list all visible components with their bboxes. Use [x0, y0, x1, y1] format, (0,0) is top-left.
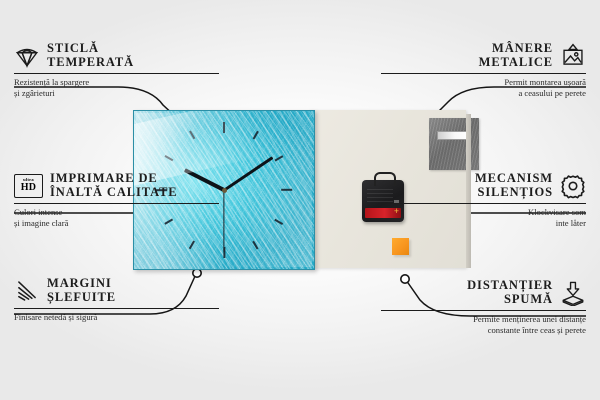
clock-tick [253, 241, 259, 250]
callout-polished-edges: MARGINI ȘLEFUITE Finisare netedă și sigu… [14, 277, 219, 323]
callout-title-line2: METALICE [479, 56, 553, 70]
callout-foam-spacer: DISTANȚIER SPUMĂ Permite menținerea unei… [381, 279, 586, 336]
callout-title-line1: MÂNERE [479, 42, 553, 56]
clock-tick [189, 241, 195, 250]
clock-tick [189, 131, 195, 140]
connector-endpoint-edges [193, 269, 201, 277]
callout-title-line2: ȘLEFUITE [47, 291, 116, 305]
hanger-slot [437, 131, 469, 140]
callout-description: Permite menținerea unei distanțe constan… [473, 314, 586, 336]
callout-metal-hooks: MÂNERE METALICE Permit montarea ușoară a… [381, 42, 586, 99]
callout-title-line1: MECANISM [475, 172, 553, 186]
infographic-canvas: STICLĂ TEMPERATĂ Rezistență la spargere … [0, 0, 600, 400]
callout-title-line2: SILENȚIOS [475, 186, 553, 200]
picture-frame-hanging-icon [560, 43, 586, 69]
callout-titles: MARGINI ȘLEFUITE [47, 277, 116, 304]
foam-spacer-pad [392, 238, 409, 255]
ultra-hd-badge-icon: ultra HD [14, 174, 43, 198]
callout-title-line2: ÎNALTĂ CALITATE [50, 186, 178, 200]
gear-icon [560, 173, 586, 199]
callout-silent-mechanism: MECANISM SILENȚIOS Klockvisare som inte … [381, 172, 586, 229]
callout-divider [14, 203, 219, 204]
clock-tick [275, 219, 284, 225]
clock-tick [165, 155, 174, 161]
callout-titles: MECANISM SILENȚIOS [475, 172, 553, 199]
callout-divider [14, 308, 219, 309]
metal-hanger-bracket [429, 118, 479, 170]
callout-description: Klockvisare som inte låter [528, 207, 586, 229]
callout-title-line2: SPUMĂ [467, 293, 553, 307]
diamond-icon [14, 43, 40, 69]
callout-divider [381, 203, 586, 204]
clock-tick [253, 131, 259, 140]
down-arrow-press-icon [560, 280, 586, 306]
callout-divider [381, 73, 586, 74]
polished-edges-icon [14, 278, 40, 304]
clock-minute-hand [223, 156, 273, 191]
callout-titles: DISTANȚIER SPUMĂ [467, 279, 553, 306]
clock-center-hub [222, 188, 227, 193]
clock-tick [281, 189, 292, 191]
callout-tempered-glass: STICLĂ TEMPERATĂ Rezistență la spargere … [14, 42, 219, 99]
callout-description: Culori intense și imagine clară [14, 207, 219, 229]
callout-divider [381, 310, 586, 311]
callout-divider [14, 73, 219, 74]
clock-tick [275, 155, 284, 161]
callout-description: Rezistență la spargere și zgârieturi [14, 77, 219, 99]
clock-second-hand [223, 190, 224, 252]
callout-title-line1: IMPRIMARE DE [50, 172, 178, 186]
ultra-hd-large-text: HD [21, 183, 37, 193]
callout-titles: IMPRIMARE DE ÎNALTĂ CALITATE [50, 172, 178, 199]
callout-titles: MÂNERE METALICE [479, 42, 553, 69]
callout-title-line2: TEMPERATĂ [47, 56, 134, 70]
callout-description: Permit montarea ușoară a ceasului pe per… [504, 77, 586, 99]
callout-title-line1: DISTANȚIER [467, 279, 553, 293]
callout-description: Finisare netedă și sigură [14, 312, 219, 323]
clock-tick [223, 122, 225, 133]
callout-title-line1: STICLĂ [47, 42, 134, 56]
callout-title-line1: MARGINI [47, 277, 116, 291]
callout-titles: STICLĂ TEMPERATĂ [47, 42, 134, 69]
callout-print-quality: ultra HD IMPRIMARE DE ÎNALTĂ CALITATE Cu… [14, 172, 219, 229]
